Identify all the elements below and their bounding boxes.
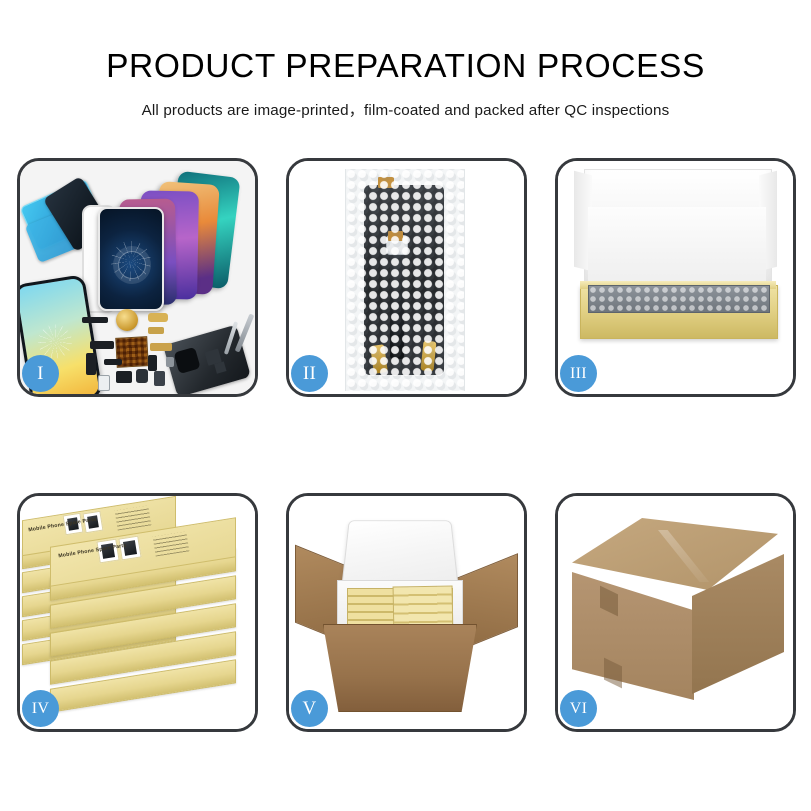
carton-front-face-icon — [572, 572, 694, 700]
page-subtitle: All products are image-printed，film-coat… — [0, 87, 811, 120]
header: PRODUCT PREPARATION PROCESS All products… — [0, 0, 811, 120]
step-badge-2: II — [291, 355, 328, 392]
phones-and-parts-illustration — [20, 161, 255, 394]
spare-part-icon — [104, 359, 122, 365]
step-5-image — [289, 496, 524, 729]
process-step-card-1: I — [17, 158, 258, 397]
process-step-card-5: V — [286, 493, 527, 732]
spare-part-icon — [166, 357, 174, 367]
bubble-wrap-illustration — [289, 161, 524, 394]
process-step-card-2: II — [286, 158, 527, 397]
phone-back-cover-icon — [163, 325, 251, 394]
open-inner-box-illustration — [558, 161, 793, 394]
stacked-boxes-illustration: Mobile Phone Spare Parts Mobile Phone Sp… — [20, 496, 255, 729]
step-3-image — [558, 161, 793, 394]
cracked-screen-icon — [98, 207, 164, 311]
step-6-image — [558, 496, 793, 729]
spare-part-icon — [148, 327, 164, 334]
sealed-carton-illustration — [558, 496, 793, 729]
spare-part-icon — [90, 341, 114, 349]
page-title: PRODUCT PREPARATION PROCESS — [0, 0, 811, 87]
process-step-card-4: Mobile Phone Spare Parts Mobile Phone Sp… — [17, 493, 258, 732]
foam-carton-illustration — [289, 496, 524, 729]
process-steps-grid: I II — [17, 158, 796, 732]
spare-part-icon — [148, 355, 157, 371]
spare-part-icon — [82, 317, 108, 323]
product-preparation-page: PRODUCT PREPARATION PROCESS All products… — [0, 0, 811, 811]
spare-part-icon — [148, 313, 168, 322]
spare-part-icon — [154, 371, 165, 386]
foam-sheet-icon — [588, 207, 766, 283]
spare-part-icon — [136, 369, 148, 383]
spare-part-icon — [150, 343, 172, 351]
process-step-card-6: VI — [555, 493, 796, 732]
spare-part-icon — [98, 375, 110, 391]
process-step-card-3: III — [555, 158, 796, 397]
cardboard-carton-icon — [323, 624, 477, 712]
step-1-image — [20, 161, 255, 394]
step-4-image: Mobile Phone Spare Parts Mobile Phone Sp… — [20, 496, 255, 729]
spare-part-icon — [116, 371, 132, 383]
bubble-layer — [346, 169, 464, 391]
bubble-wrap-sleeve — [345, 169, 465, 391]
step-2-image — [289, 161, 524, 394]
step-badge-1: I — [22, 355, 59, 392]
step-badge-4: IV — [22, 690, 59, 727]
step-badge-5: V — [291, 690, 328, 727]
copper-coil-icon — [116, 309, 138, 331]
step-badge-3: III — [560, 355, 597, 392]
spare-part-icon — [86, 353, 96, 375]
bubble-wrapped-contents-icon — [588, 285, 770, 313]
step-badge-6: VI — [560, 690, 597, 727]
